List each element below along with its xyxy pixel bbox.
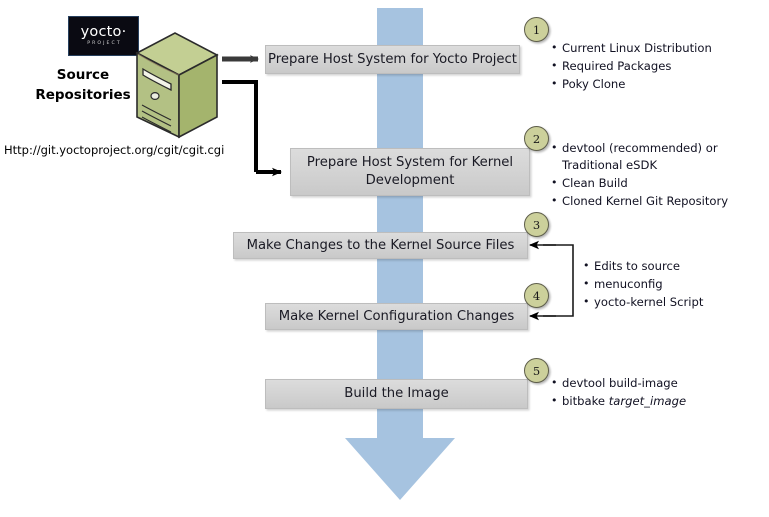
process-box-step1[interactable]: Prepare Host System for Yocto Project xyxy=(265,45,520,74)
yocto-project-logo: yocto· PROJECT xyxy=(68,16,139,56)
list-item: yocto-kernel Script xyxy=(583,294,768,311)
step-badge-5: 5 xyxy=(524,358,549,383)
source-repositories-url: Http://git.yoctoproject.org/cgit/cgit.cg… xyxy=(4,143,224,157)
process-box-step2[interactable]: Prepare Host System for Kernel Developme… xyxy=(290,148,530,196)
step-badge-2: 2 xyxy=(524,126,549,151)
server-icon xyxy=(131,25,221,145)
logo-wordmark: yocto· xyxy=(81,25,127,40)
diagram-canvas: yocto· PROJECT Source Repositories Http:… xyxy=(0,0,769,517)
connector-bracket-step34 xyxy=(543,245,573,316)
list-item: Edits to source xyxy=(583,258,768,275)
process-box-step4[interactable]: Make Kernel Configuration Changes xyxy=(265,303,528,330)
list-item: menuconfig xyxy=(583,276,768,293)
list-item: Current Linux Distribution xyxy=(551,40,766,57)
source-repositories-label: Source Repositories xyxy=(22,66,144,105)
process-box-step5[interactable]: Build the Image xyxy=(265,379,528,409)
list-item: Cloned Kernel Git Repository xyxy=(551,193,766,210)
bullet-list-step2: devtool (recommended) or Traditional eSD… xyxy=(551,140,766,212)
bullet-list-step1: Current Linux Distribution Required Pack… xyxy=(551,40,766,94)
list-item: Required Packages xyxy=(551,58,766,75)
logo-dot: · xyxy=(122,24,127,40)
list-item: bitbake target_image xyxy=(551,393,766,410)
process-box-step3[interactable]: Make Changes to the Kernel Source Files xyxy=(233,232,528,259)
step-badge-3: 3 xyxy=(524,212,549,237)
list-item: Poky Clone xyxy=(551,76,766,93)
bullet-list-step34: Edits to source menuconfig yocto-kernel … xyxy=(583,258,768,312)
list-item: devtool build-image xyxy=(551,375,766,392)
connector-server-to-step2 xyxy=(222,82,256,172)
step-badge-1: 1 xyxy=(524,17,549,42)
logo-subtext: PROJECT xyxy=(85,42,122,47)
list-item: Clean Build xyxy=(551,175,766,192)
bullet-list-step5: devtool build-image bitbake target_image xyxy=(551,375,766,411)
list-item: devtool (recommended) or Traditional eSD… xyxy=(551,140,766,174)
step-badge-4: 4 xyxy=(524,283,549,308)
